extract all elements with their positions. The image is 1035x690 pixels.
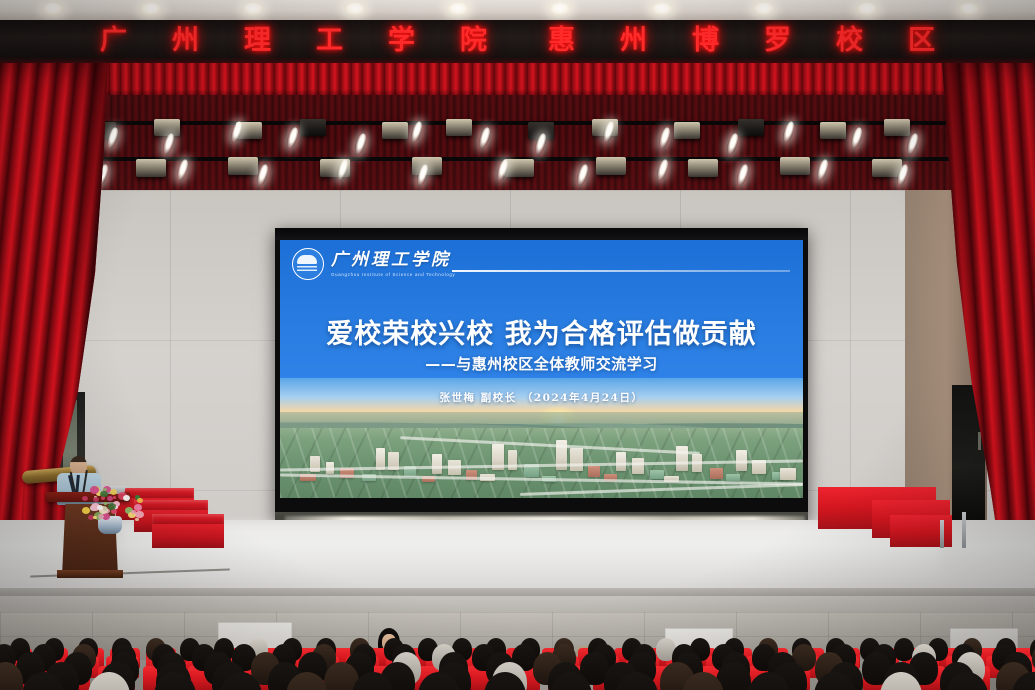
- flower-petal: [82, 496, 88, 501]
- stage-light-fixture-icon: [674, 122, 700, 139]
- stage-light-fixture-icon: [154, 119, 180, 136]
- flower-petal: [111, 509, 117, 514]
- header-divider: [452, 270, 790, 272]
- stage-light-fixture-icon: [596, 157, 626, 175]
- presentation-slide: 广州理工学院 Guangzhou Institute of Science an…: [280, 240, 803, 498]
- flower-arrangement: [76, 484, 156, 532]
- photo-building: [432, 454, 442, 474]
- flower-petal: [90, 486, 99, 494]
- lighting-truss-zone: [0, 95, 1035, 190]
- led-char: 学: [366, 23, 438, 59]
- flower-petal: [93, 497, 99, 502]
- projection-screen: 广州理工学院 Guangzhou Institute of Science an…: [275, 228, 808, 523]
- floor-reflection: [120, 524, 940, 584]
- led-char: 罗: [742, 23, 814, 59]
- university-seal-icon: [292, 248, 324, 280]
- slide-byline: 张世梅 副校长 （2024年4月24日）: [280, 390, 803, 405]
- logo-name-en: Guangzhou Institute of Science and Techn…: [331, 272, 455, 277]
- audience-area: [0, 612, 1035, 690]
- led-char: 博: [670, 23, 742, 59]
- stage-light-fixture-icon: [300, 119, 326, 136]
- photo-building: [710, 468, 723, 479]
- door-handle-icon: [978, 432, 981, 450]
- slide-title: 爱校荣校兴校 我为合格评估做贡献: [280, 312, 803, 351]
- slide-header: 广州理工学院 Guangzhou Institute of Science an…: [280, 240, 803, 286]
- screen-top-frame: [275, 228, 808, 240]
- downlight-icon: [242, 2, 264, 15]
- led-banner-text: 广州理工学院惠州博罗校区: [0, 23, 1035, 59]
- led-char: 区: [886, 23, 958, 59]
- led-char: 广: [78, 23, 150, 59]
- stage-light-fixture-icon: [884, 119, 910, 136]
- riser-support-leg: [962, 512, 966, 548]
- downlight-icon: [140, 2, 162, 15]
- led-char: 州: [598, 23, 670, 59]
- photo-building: [650, 470, 664, 479]
- photo-building: [726, 474, 740, 481]
- downlight-icon: [753, 2, 775, 15]
- riser-support-leg: [940, 520, 944, 548]
- flower-petal: [107, 496, 113, 501]
- podium-base: [57, 570, 123, 578]
- photo-building: [632, 458, 644, 474]
- downlight-icon: [549, 2, 571, 15]
- downlight-icon: [856, 2, 878, 15]
- flower-petal: [113, 496, 116, 499]
- stage-light-fixture-icon: [382, 122, 408, 139]
- photo-building: [588, 466, 600, 477]
- photo-building: [616, 452, 626, 471]
- stage-light-fixture-icon: [136, 159, 166, 177]
- led-char: 理: [222, 23, 294, 59]
- stage-light-fixture-icon: [446, 119, 472, 136]
- flower-petal: [104, 502, 107, 505]
- flower-petal: [135, 511, 144, 519]
- stage-light-fixture-icon: [504, 159, 534, 177]
- flower-petal: [137, 498, 143, 503]
- stage-light-fixture-icon: [738, 119, 764, 136]
- riser-step-left-1-face: [152, 524, 224, 548]
- photo-building: [570, 448, 583, 471]
- led-char: 校: [814, 23, 886, 59]
- downlight-icon: [344, 2, 366, 15]
- flower-petal: [135, 518, 139, 521]
- led-char: 工: [294, 23, 366, 59]
- stage-light-fixture-icon: [228, 157, 258, 175]
- university-logo: 广州理工学院 Guangzhou Institute of Science an…: [292, 248, 455, 280]
- stage-light-fixture-icon: [820, 122, 846, 139]
- downlight-icon: [42, 2, 64, 15]
- led-gap: [510, 23, 526, 59]
- flower-petal: [100, 491, 108, 498]
- stage-light-fixture-icon: [780, 157, 810, 175]
- downlight-icon: [447, 2, 469, 15]
- led-char: 惠: [526, 23, 598, 59]
- stage-light-fixture-icon: [688, 159, 718, 177]
- flower-petal: [110, 489, 117, 495]
- led-char: 州: [150, 23, 222, 59]
- logo-name-cn: 广州理工学院: [331, 252, 455, 269]
- slide-subtitle: ——与惠州校区全体教师交流学习: [280, 353, 803, 374]
- led-banner: 广州理工学院惠州博罗校区: [0, 20, 1035, 63]
- photo-building: [780, 468, 796, 480]
- led-char: 院: [438, 23, 510, 59]
- auditorium-photo: 广州理工学院惠州博罗校区 广州理工学院 Guangzhou Institute …: [0, 0, 1035, 690]
- downlight-icon: [651, 2, 673, 15]
- downlight-icon: [958, 2, 980, 15]
- flower-petal: [123, 495, 130, 501]
